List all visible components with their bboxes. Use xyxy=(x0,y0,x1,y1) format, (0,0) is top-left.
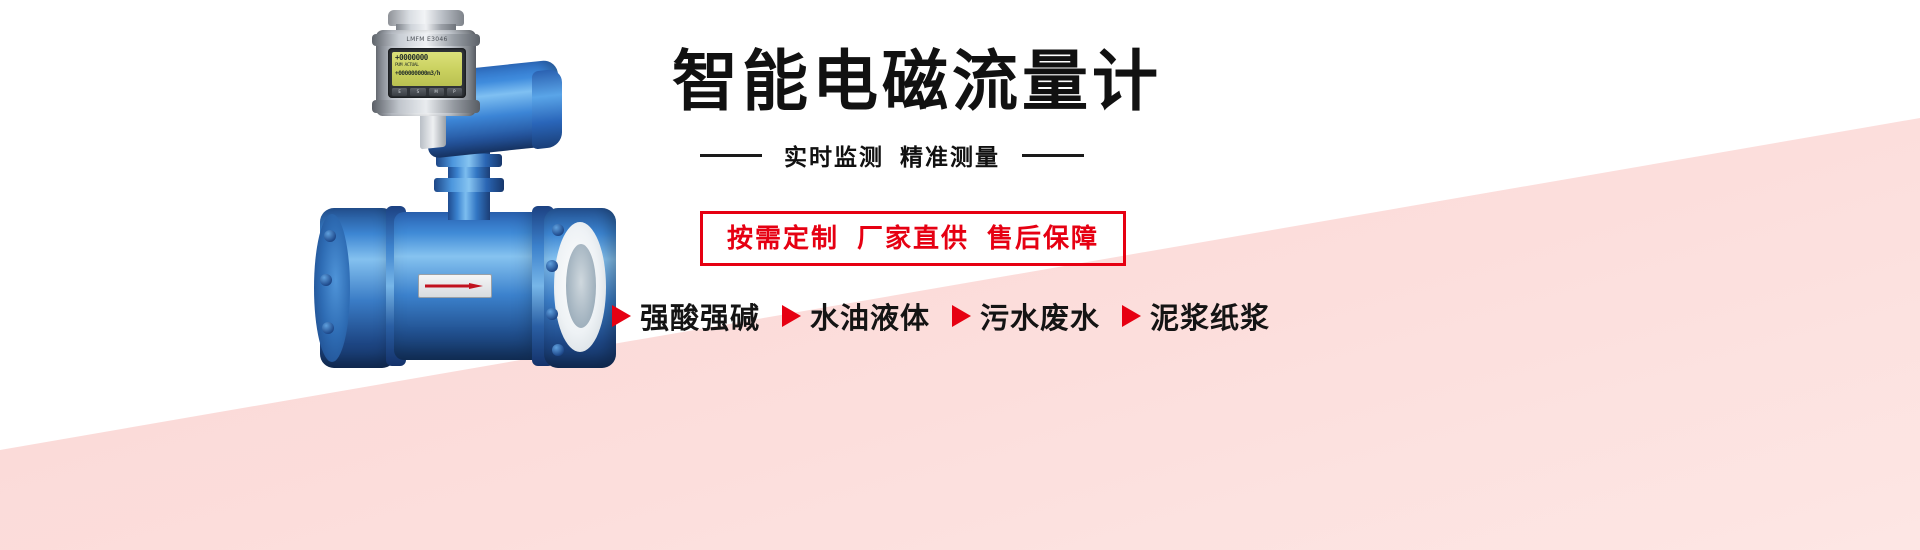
feature-item-2: 水油液体 xyxy=(782,295,930,337)
feature-list: 强酸强碱 水油液体 污水废水 泥浆纸浆 xyxy=(612,295,1270,337)
guarantee-badge-text: 按需定制厂家直供售后保障 xyxy=(727,225,1099,251)
subtitle-right: 精准测量 xyxy=(900,144,1000,170)
feature-label: 泥浆纸浆 xyxy=(1150,295,1270,337)
subtitle-text: 实时监测精准测量 xyxy=(784,138,1000,172)
product-banner: LMFM E3046 +0000000 PUM ACTUAL +00000000… xyxy=(0,0,1920,550)
guarantee-badge: 按需定制厂家直供售后保障 xyxy=(700,211,1126,266)
badge-item-2: 厂家直供 xyxy=(857,223,969,253)
feature-label: 水油液体 xyxy=(810,295,930,337)
subtitle-row: 实时监测精准测量 xyxy=(700,138,1084,172)
subtitle-left: 实时监测 xyxy=(784,144,884,170)
badge-item-1: 按需定制 xyxy=(727,223,839,253)
badge-item-3: 售后保障 xyxy=(987,223,1099,253)
feature-item-1: 强酸强碱 xyxy=(612,295,760,337)
rule-right xyxy=(1022,154,1084,157)
rule-left xyxy=(700,154,762,157)
page-title: 智能电磁流量计 xyxy=(672,48,1162,114)
triangle-right-icon xyxy=(612,305,631,327)
triangle-right-icon xyxy=(1122,305,1141,327)
copy-block: 智能电磁流量计 实时监测精准测量 按需定制厂家直供售后保障 强酸强碱 水油液体 xyxy=(0,0,1920,550)
feature-item-3: 污水废水 xyxy=(952,295,1100,337)
feature-label: 污水废水 xyxy=(980,295,1100,337)
triangle-right-icon xyxy=(782,305,801,327)
feature-item-4: 泥浆纸浆 xyxy=(1122,295,1270,337)
feature-label: 强酸强碱 xyxy=(640,295,760,337)
triangle-right-icon xyxy=(952,305,971,327)
